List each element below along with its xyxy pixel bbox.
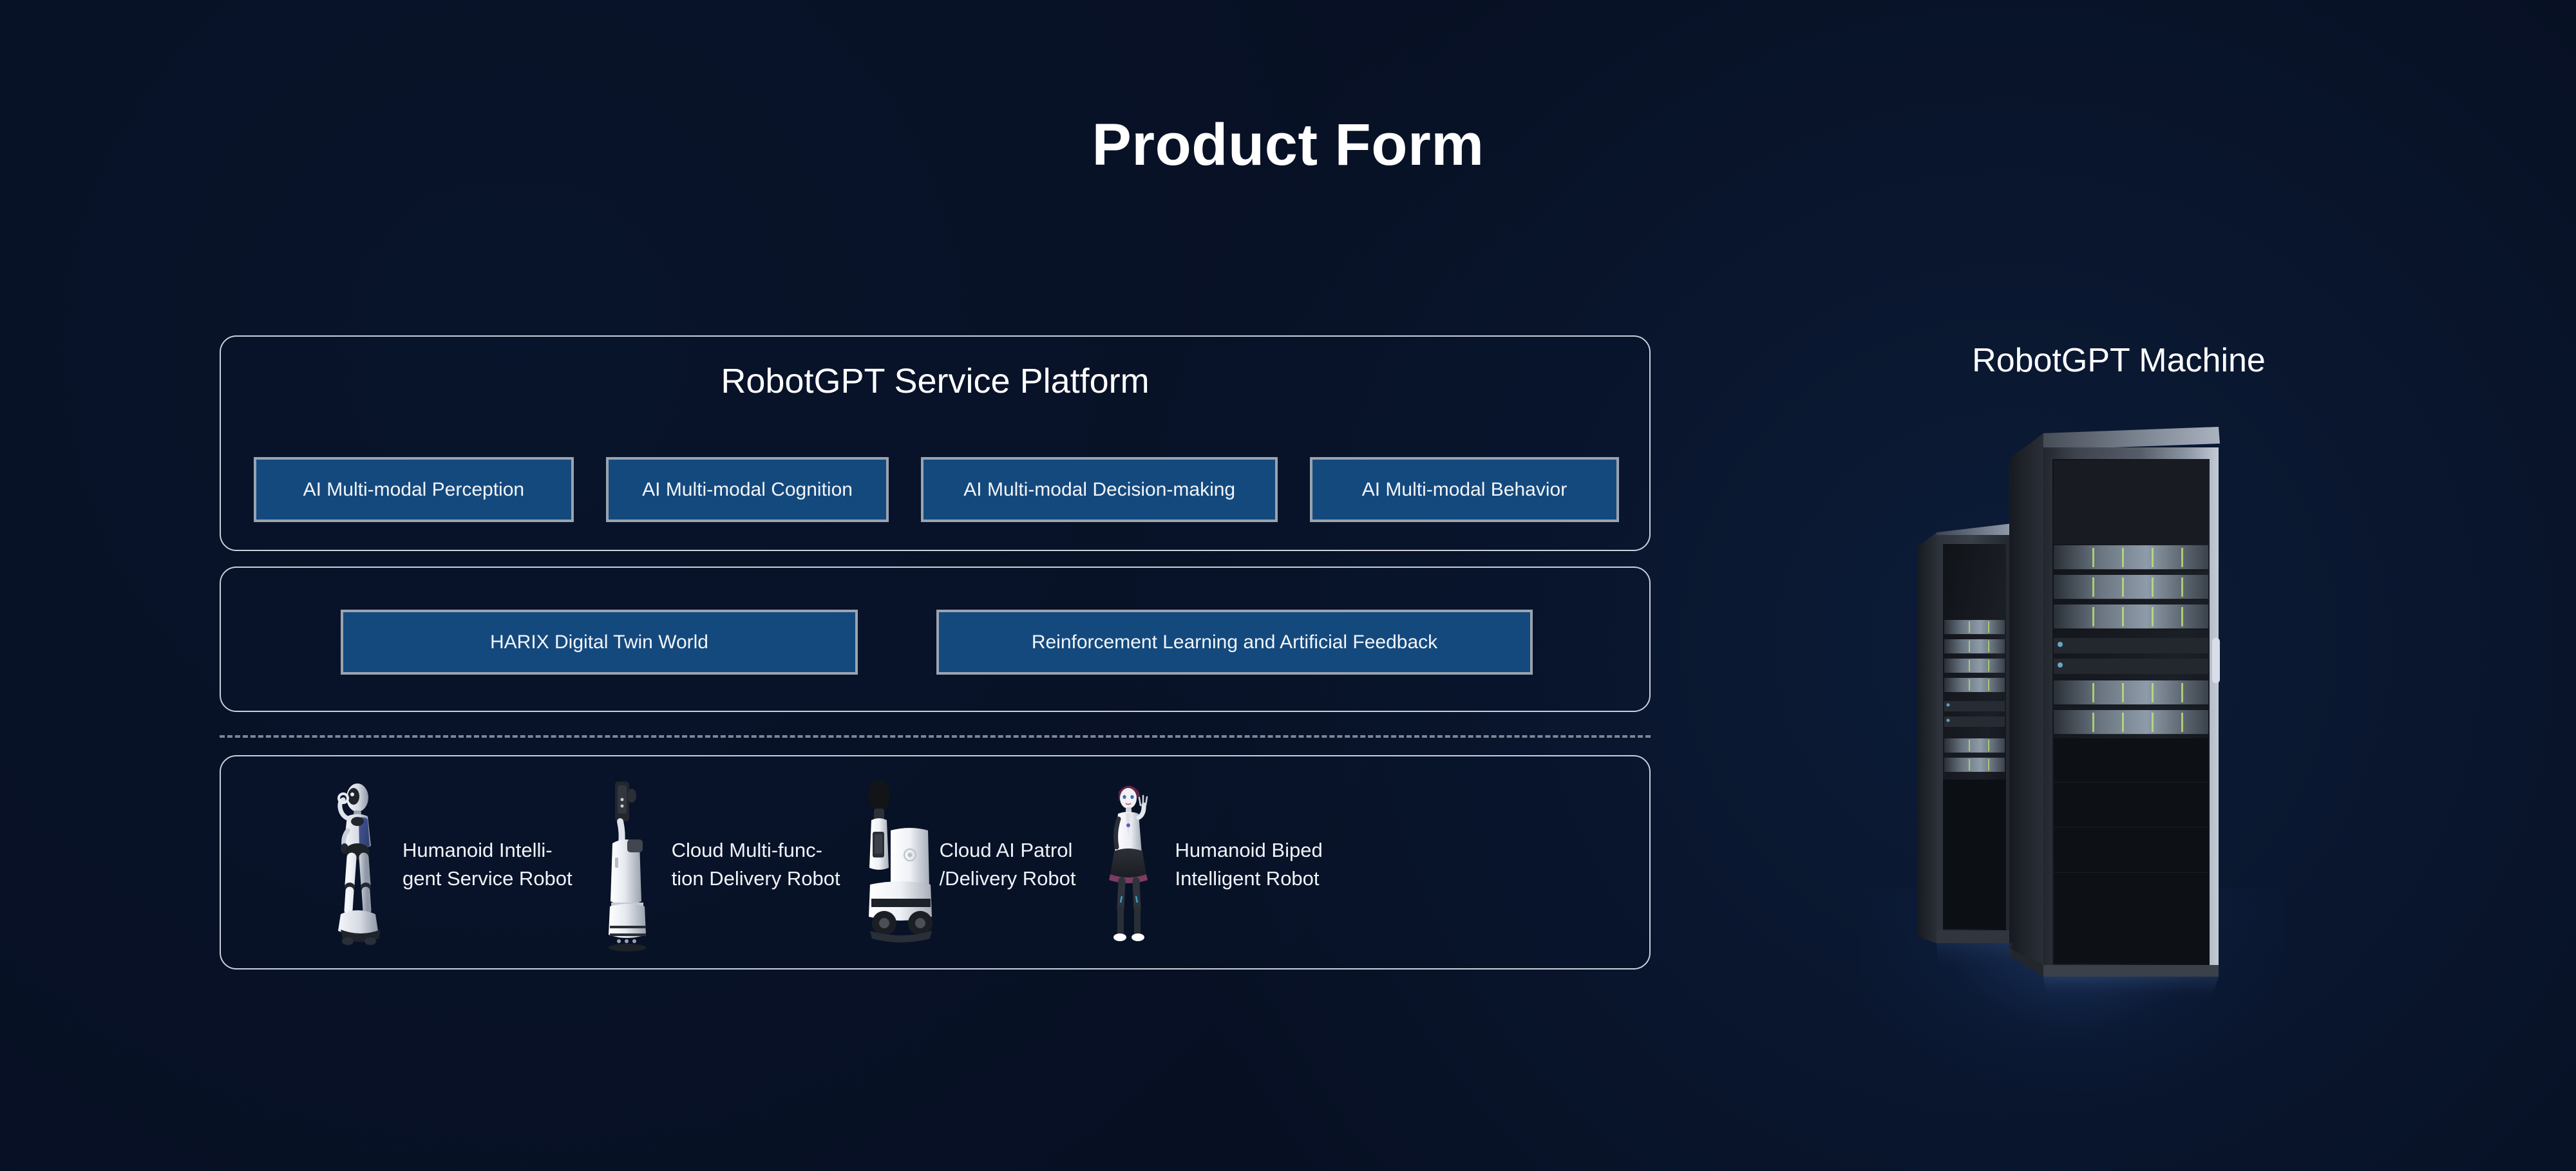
list-item[interactable]: Humanoid Intelli- gent Service Robot — [317, 776, 573, 953]
pill-label: AI Multi-modal Decision-making — [963, 479, 1235, 501]
pill-reinforcement-learning-artificial-feedback[interactable]: Reinforcement Learning and Artificial Fe… — [936, 610, 1533, 675]
pill-ai-multimodal-cognition[interactable]: AI Multi-modal Cognition — [606, 457, 889, 522]
list-item-label: Cloud AI Patrol /Delivery Robot — [940, 836, 1076, 893]
pill-label: Reinforcement Learning and Artificial Fe… — [1032, 632, 1437, 653]
list-item[interactable]: Cloud Multi-func- tion Delivery Robot — [587, 776, 840, 953]
pill-harix-digital-twin-world[interactable]: HARIX Digital Twin World — [341, 610, 858, 675]
robotgpt-service-platform-card: RobotGPT Service Platform AI Multi-modal… — [220, 335, 1651, 551]
slide-root: Product Form RobotGPT Service Platform A… — [0, 0, 2576, 1171]
humanoid-service-robot-icon — [317, 776, 395, 953]
pill-ai-multimodal-behavior[interactable]: AI Multi-modal Behavior — [1310, 457, 1619, 522]
cloud-delivery-robot-icon — [587, 776, 664, 953]
page-title: Product Form — [0, 113, 2576, 178]
robot-list: Humanoid Intelli- gent Service Robot — [317, 774, 1605, 955]
front-cabinet — [2009, 427, 2220, 977]
list-item[interactable]: Humanoid Biped Intelligent Robot — [1090, 776, 1322, 953]
list-item-label: Cloud Multi-func- tion Delivery Robot — [672, 836, 840, 893]
pill-label: AI Multi-modal Behavior — [1362, 479, 1567, 501]
pill-label: HARIX Digital Twin World — [490, 632, 708, 653]
pill-label: AI Multi-modal Perception — [303, 479, 524, 501]
capability-pill-row: AI Multi-modal Perception AI Multi-modal… — [254, 457, 1619, 522]
engine-pill-row: HARIX Digital Twin World Reinforcement L… — [341, 610, 1622, 675]
platform-heading: RobotGPT Service Platform — [221, 361, 1649, 401]
pill-label: AI Multi-modal Cognition — [642, 479, 853, 501]
robot-products-card: Humanoid Intelli- gent Service Robot — [220, 755, 1651, 970]
cloud-patrol-robot-icon — [855, 776, 932, 953]
engine-layer-card: HARIX Digital Twin World Reinforcement L… — [220, 567, 1651, 712]
machine-title: RobotGPT Machine — [1797, 341, 2441, 380]
pill-ai-multimodal-decision-making[interactable]: AI Multi-modal Decision-making — [921, 457, 1278, 522]
list-item[interactable]: Cloud AI Patrol /Delivery Robot — [855, 776, 1076, 953]
list-item-label: Humanoid Intelli- gent Service Robot — [402, 836, 573, 893]
humanoid-biped-robot-icon — [1090, 776, 1167, 953]
server-rack-icon — [1909, 422, 2238, 1001]
list-item-label: Humanoid Biped Intelligent Robot — [1175, 836, 1322, 893]
pill-ai-multimodal-perception[interactable]: AI Multi-modal Perception — [254, 457, 574, 522]
section-divider — [220, 735, 1651, 738]
rear-cabinet — [1917, 523, 2012, 943]
